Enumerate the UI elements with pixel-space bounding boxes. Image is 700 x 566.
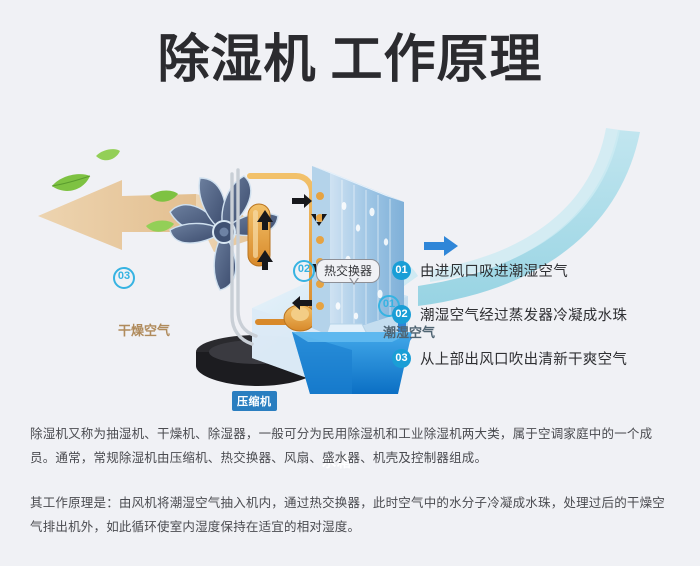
title-part-secondary: 工作原理 bbox=[331, 31, 543, 89]
legend-label-02: 潮湿空气经过蒸发器冷凝成水珠 bbox=[420, 304, 627, 325]
callout-heat-exchanger: 热交换器 bbox=[316, 259, 380, 283]
legend-item: 02 潮湿空气经过蒸发器冷凝成水珠 bbox=[392, 299, 692, 329]
label-dry-air-text: 干燥空气 bbox=[118, 320, 170, 339]
label-heat-exchanger-number: 02 bbox=[293, 260, 315, 282]
label-dry-air-number: 03 bbox=[113, 267, 135, 289]
badge-02: 02 bbox=[293, 260, 315, 282]
description-block: 除湿机又称为抽湿机、干燥机、除湿器，一般可分为民用除湿机和工业除湿机两大类，属于… bbox=[30, 422, 675, 539]
legend-badge-03: 03 bbox=[392, 349, 411, 368]
infographic-page: 除湿机工作原理 bbox=[0, 0, 700, 566]
legend-list: 01 由进风口吸进潮湿空气 02 潮湿空气经过蒸发器冷凝成水珠 03 从上部出风… bbox=[392, 255, 692, 387]
legend-item: 01 由进风口吸进潮湿空气 bbox=[392, 255, 692, 285]
legend-badge-02: 02 bbox=[392, 305, 411, 324]
badge-03: 03 bbox=[113, 267, 135, 289]
description-paragraph-1: 除湿机又称为抽湿机、干燥机、除湿器，一般可分为民用除湿机和工业除湿机两大类，属于… bbox=[30, 422, 675, 470]
callout-pointer-icon bbox=[349, 278, 359, 285]
legend-item: 03 从上部出风口吹出清新干爽空气 bbox=[392, 343, 692, 373]
page-title: 除湿机工作原理 bbox=[0, 30, 700, 90]
legend-label-03: 从上部出风口吹出清新干爽空气 bbox=[420, 348, 627, 369]
legend-label-01: 由进风口吸进潮湿空气 bbox=[420, 260, 568, 281]
label-compressor: 压缩机 bbox=[232, 391, 277, 411]
title-part-primary: 除湿机 bbox=[157, 31, 316, 89]
description-paragraph-2: 其工作原理是：由风机将潮湿空气抽入机内，通过热交换器，此时空气中的水分子冷凝成水… bbox=[30, 491, 675, 539]
legend-badge-01: 01 bbox=[392, 261, 411, 280]
